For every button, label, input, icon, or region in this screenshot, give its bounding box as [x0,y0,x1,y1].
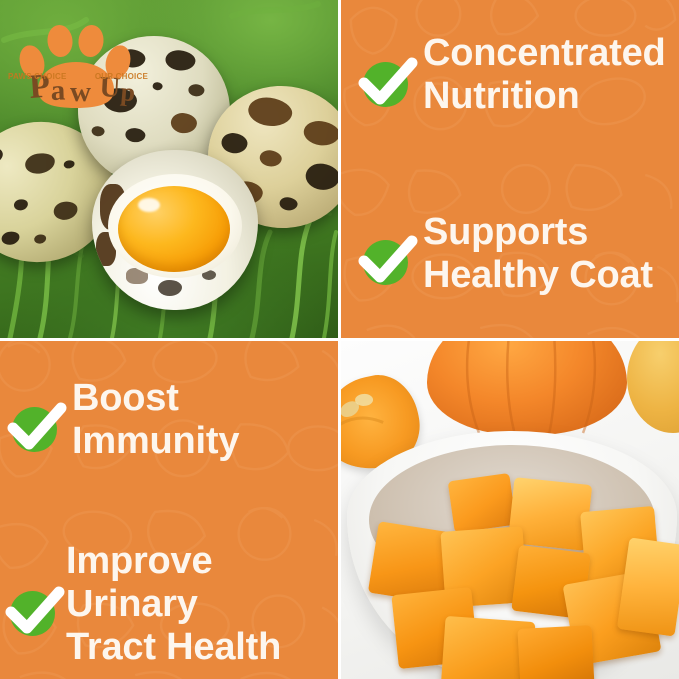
orange-panel: Concentrated Nutrition Supports Healthy … [341,0,679,338]
green-check-icon [4,581,66,643]
brand-logo: P a w U p [8,18,148,113]
green-check-icon [357,230,419,292]
orange-panel: Boost Immunity Improve Urinary Tract Hea… [0,341,338,679]
paw-print-icon: P a w U p [8,18,148,113]
photo-quadrant-pumpkin [341,341,679,679]
product-feature-collage: P a w U p PAWS CHOICE OUR CHOICE [0,0,679,679]
svg-text:p: p [119,77,136,107]
check-mark-icon [357,230,419,292]
whole-pumpkin [427,341,627,435]
brand-tagline-left: PAWS CHOICE [8,72,67,81]
feature-bullet-label: Improve Urinary Tract Health [66,540,338,670]
feature-panel-top-right: Concentrated Nutrition Supports Healthy … [341,0,679,338]
pumpkin-cube [448,473,517,533]
feature-bullet: Concentrated Nutrition [357,48,679,119]
brand-tagline: PAWS CHOICE OUR CHOICE [8,72,148,81]
green-check-icon [357,52,419,114]
check-mark-icon [357,52,419,114]
panel-separator-horizontal [0,338,679,341]
check-mark-icon [6,397,68,459]
check-mark-icon [4,581,66,643]
feature-bullet: Supports Healthy Coat [357,225,679,298]
feature-bullet-label: Supports Healthy Coat [423,211,653,298]
feature-panel-bottom-left: Boost Immunity Improve Urinary Tract Hea… [0,341,338,679]
pumpkin-ribs-icon [427,341,627,435]
pumpkin-bowl-photo [341,341,679,679]
quail-egg-photo: P a w U p PAWS CHOICE OUR CHOICE [0,0,338,338]
feature-bullet-label: Boost Immunity [72,377,239,464]
green-check-icon [6,397,68,459]
white-bowl [347,431,677,679]
yolk-highlight [138,198,160,212]
feature-bullet-list: Boost Immunity Improve Urinary Tract Hea… [0,341,338,679]
feature-bullet-list: Concentrated Nutrition Supports Healthy … [341,0,679,338]
brand-tagline-right: OUR CHOICE [95,72,148,81]
feature-bullet: Improve Urinary Tract Health [4,554,338,670]
pumpkin-cube [517,625,594,679]
egg-yolk [118,186,230,272]
photo-quadrant-eggs: P a w U p PAWS CHOICE OUR CHOICE [0,0,338,338]
feature-bullet-label: Concentrated Nutrition [423,32,666,119]
feature-bullet: Boost Immunity [6,393,338,464]
